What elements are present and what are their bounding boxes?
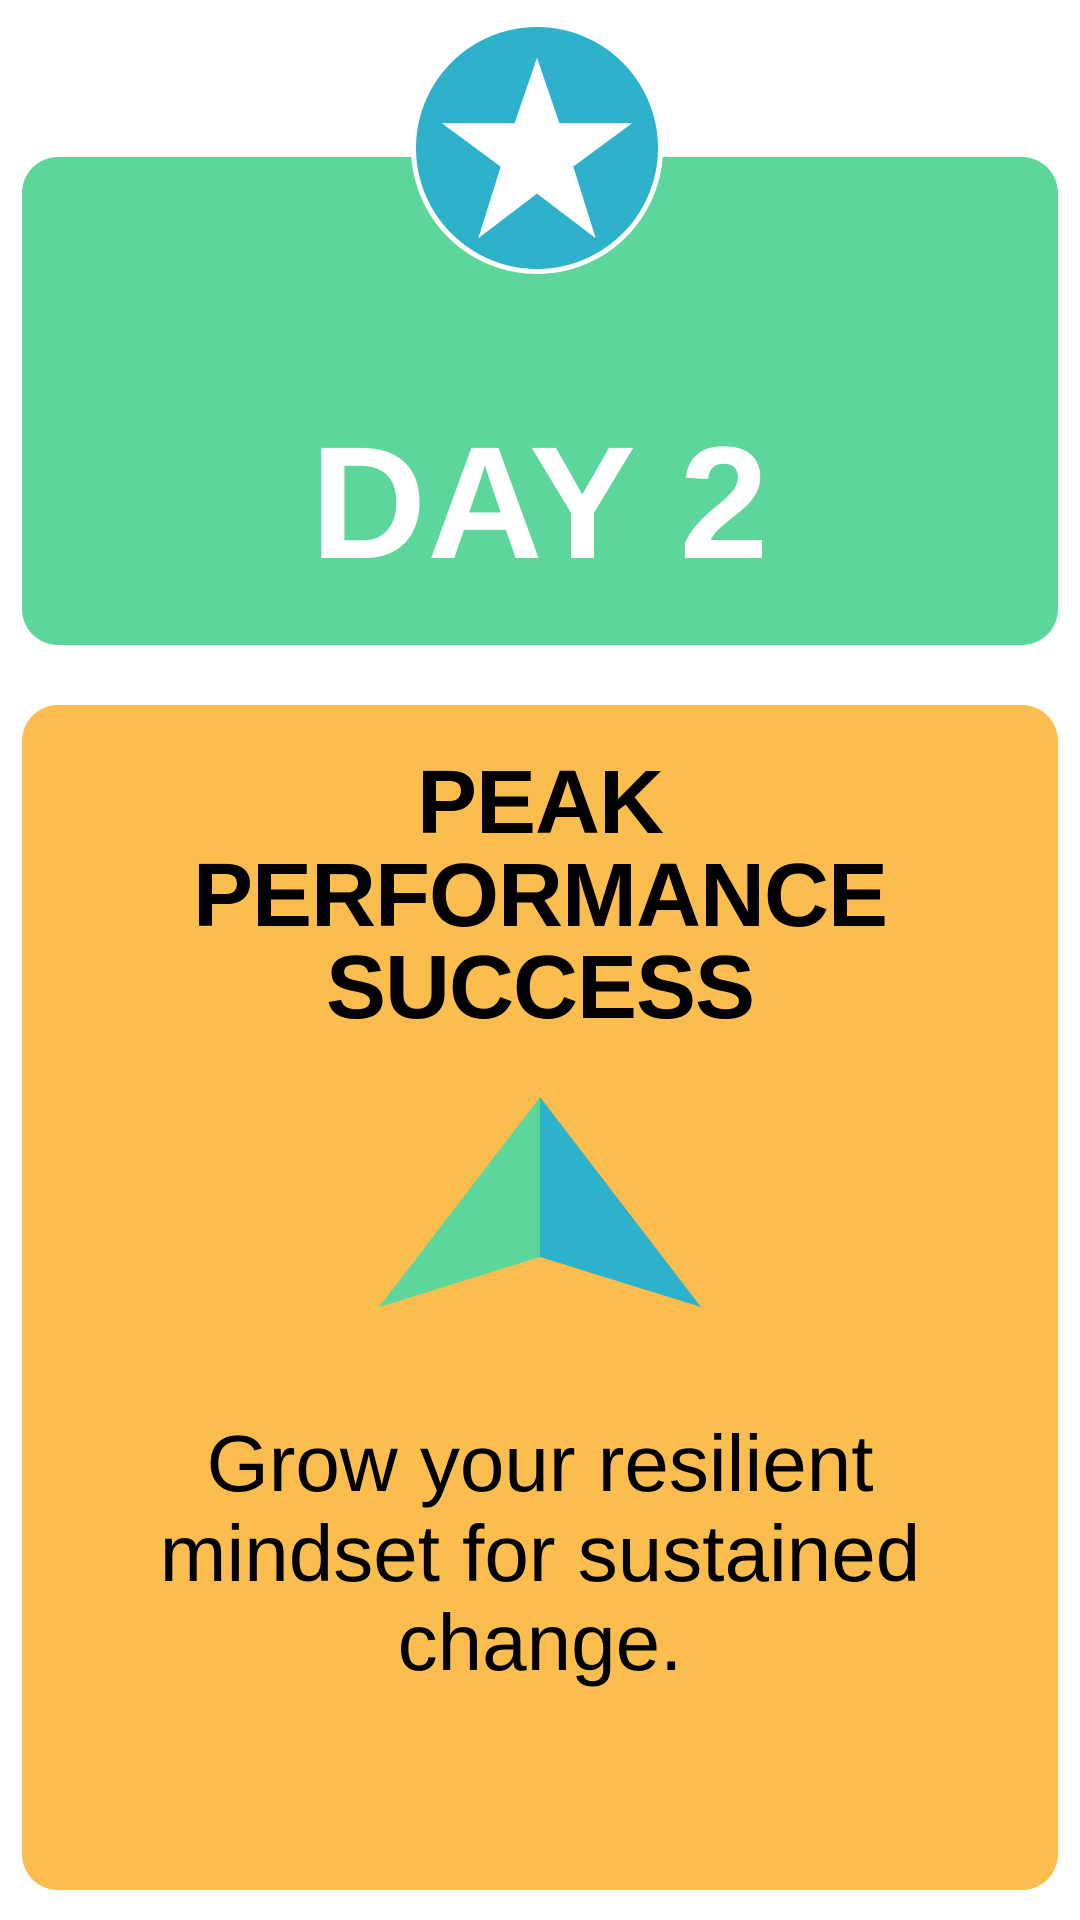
subtext: Grow your resilient mindset for sustaine…: [90, 1419, 990, 1688]
star-icon: [442, 57, 632, 239]
chevron-up-icon: [379, 1097, 701, 1307]
star-badge: [411, 22, 663, 274]
content-card: PEAK PERFORMANCE SUCCESS Grow your resil…: [22, 705, 1058, 1890]
day-label: DAY 2: [311, 423, 770, 583]
poster-canvas: DAY 2 PEAK PERFORMANCE SUCCESS Grow your…: [0, 0, 1080, 1920]
headline-text: PEAK PERFORMANCE SUCCESS: [62, 757, 1018, 1035]
